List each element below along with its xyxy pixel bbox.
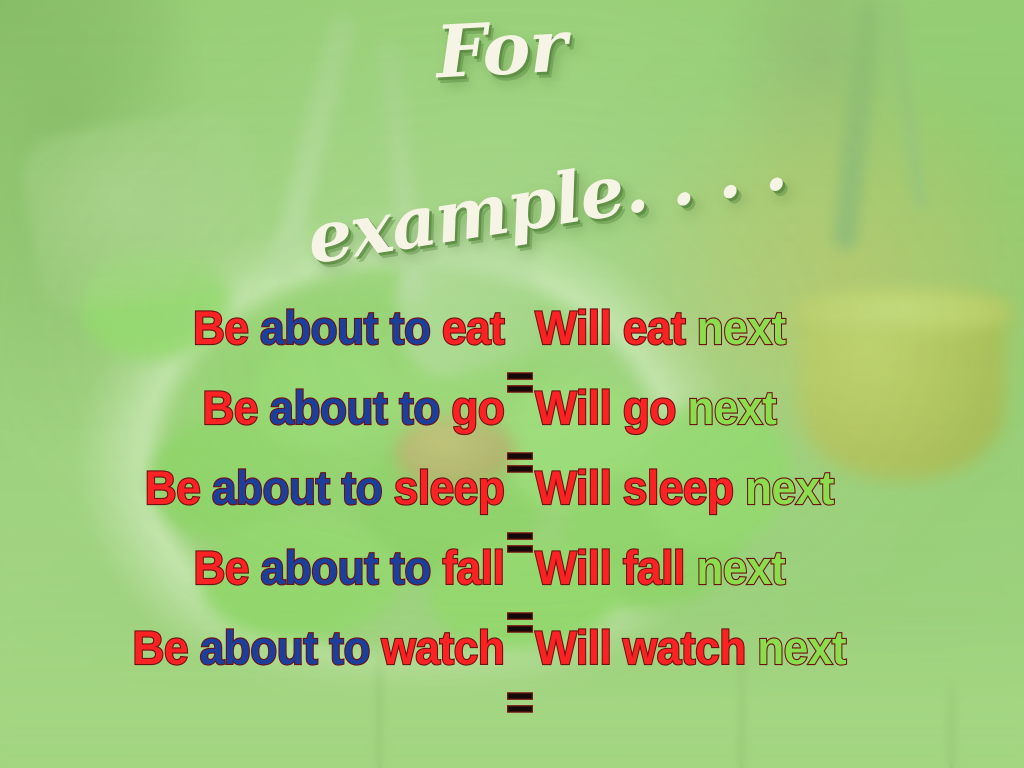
equation-left-side: Beabout tosleep bbox=[16, 448, 505, 528]
word-be: Be bbox=[133, 621, 189, 674]
word-about-to: about to bbox=[212, 461, 382, 514]
word-be: Be bbox=[145, 461, 201, 514]
word-about-to: about to bbox=[260, 301, 430, 354]
word-verb-right: fall bbox=[623, 541, 685, 594]
equation-list: Beabout toeat = Willeatnext Beabout togo… bbox=[0, 288, 1024, 688]
word-be: Be bbox=[193, 301, 249, 354]
word-verb-right: eat bbox=[623, 301, 685, 354]
equation-right-side: Willwatchnext bbox=[535, 608, 1009, 688]
word-next: next bbox=[745, 461, 834, 514]
word-about-to: about to bbox=[269, 381, 439, 434]
equation-row: Beabout toeat = Willeatnext bbox=[0, 288, 1024, 368]
word-be: Be bbox=[193, 541, 249, 594]
word-verb-right: go bbox=[623, 381, 676, 434]
equation-right-side: Willsleepnext bbox=[535, 448, 1009, 528]
word-will: Will bbox=[535, 541, 611, 594]
word-verb-left: sleep bbox=[394, 461, 505, 514]
slide-canvas: For example. . . . Beabout toeat = Wille… bbox=[0, 0, 1024, 768]
word-next: next bbox=[757, 621, 846, 674]
equation-left-side: Beabout towatch bbox=[16, 608, 505, 688]
equation-left-side: Beabout toeat bbox=[16, 288, 505, 368]
word-verb-right: sleep bbox=[623, 461, 734, 514]
word-verb-right: watch bbox=[623, 621, 746, 674]
word-will: Will bbox=[535, 381, 611, 434]
equation-right-side: Willfallnext bbox=[535, 528, 1009, 608]
word-next: next bbox=[697, 301, 786, 354]
word-about-to: about to bbox=[200, 621, 370, 674]
word-verb-left: watch bbox=[382, 621, 505, 674]
equation-left-side: Beabout togo bbox=[16, 368, 505, 448]
word-next: next bbox=[687, 381, 776, 434]
equation-right-side: Willgonext bbox=[535, 368, 1009, 448]
word-will: Will bbox=[535, 621, 611, 674]
word-next: next bbox=[696, 541, 785, 594]
word-be: Be bbox=[202, 381, 258, 434]
headline-line-1: For bbox=[434, 3, 568, 95]
word-about-to: about to bbox=[260, 541, 430, 594]
word-will: Will bbox=[535, 461, 611, 514]
equation-left-side: Beabout tofall bbox=[16, 528, 505, 608]
equation-right-side: Willeatnext bbox=[535, 288, 1009, 368]
word-will: Will bbox=[535, 301, 611, 354]
